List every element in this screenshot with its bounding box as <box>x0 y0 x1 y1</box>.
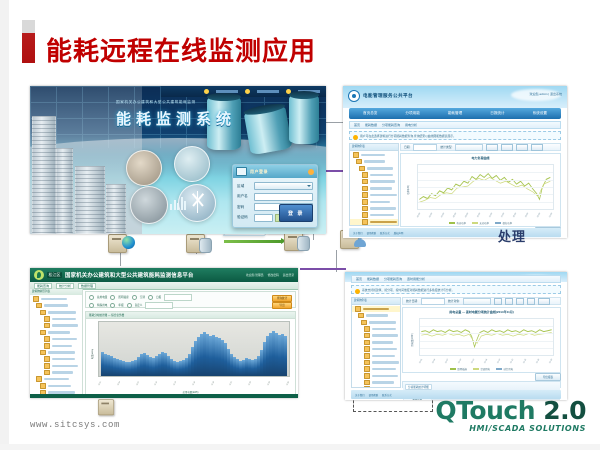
query-button[interactable] <box>531 144 543 151</box>
field-label: 用户名 <box>237 194 254 199</box>
dashboard-footer[interactable]: 关于我们 使用帮助 联系方式 版权声明 <box>349 228 561 237</box>
region-badge: 松江区 <box>47 272 62 278</box>
tree-node[interactable] <box>30 370 82 376</box>
x-tick: 14:00 <box>501 213 505 218</box>
login-dialog[interactable]: 用户登录 区域 用户名 密码 验证码 <box>232 164 318 228</box>
page-title: 能耗远程在线监测应用 <box>46 39 316 65</box>
tree-node[interactable] <box>30 330 82 336</box>
table-tab[interactable]: 日报表 <box>403 238 417 239</box>
splash-title-block: 国家机关办公建筑和大型公共建筑能耗监测 能耗监测系统 <box>116 100 236 129</box>
x-tick: 11-10 <box>458 359 462 364</box>
nav-item[interactable]: 数据管理 <box>78 283 96 289</box>
nav-item[interactable]: 首页总览 <box>349 111 391 116</box>
tree-node-selected[interactable] <box>350 219 398 225</box>
chimney-icon <box>126 150 162 186</box>
footer-link[interactable]: 联系方式 <box>382 393 392 397</box>
bar-decor-icon <box>170 194 186 210</box>
tree-header: 建筑物树形列表 <box>30 289 82 295</box>
chart-panel-title: 能耗分时统计图 — 综合业务楼 <box>86 312 295 319</box>
legend-item: 空调用电 <box>473 367 490 371</box>
query-toolbar[interactable]: 日期: 统计类型: <box>400 143 561 151</box>
nav-item[interactable]: 能耗查询 <box>34 283 52 289</box>
tree-header: 建筑物列表 <box>350 144 398 151</box>
tree-node[interactable] <box>30 336 82 342</box>
login-field-username[interactable]: 用户名 <box>237 193 313 201</box>
x-tick: 11-04 <box>432 359 436 364</box>
chart-xaxis: 00:00 02:00 04:00 06:00 08:00 10:00 12:0… <box>417 217 554 219</box>
logo-tagline: HMI/SCADA SOLUTIONS <box>435 424 586 433</box>
tree-node[interactable] <box>350 199 398 205</box>
x-tick: 11-28 <box>536 359 540 364</box>
screenshot-login-splash[interactable]: 国家机关办公建筑和大型公共建筑能耗监测 能耗监测系统 用户登录 区域 <box>30 86 326 234</box>
logo-wordmark: QTouch 2.0 <box>435 398 586 423</box>
breadcrumb-item[interactable]: 用电分析 <box>405 123 417 127</box>
footer-link[interactable]: 联系方式 <box>380 231 390 235</box>
notice-banner: 系统支持按建筑、按分项、按时间维度对能耗数据进行多角度统计与分析。 <box>351 285 561 294</box>
type-label: 统计对象: <box>448 299 460 303</box>
tree-node[interactable] <box>352 313 400 319</box>
footer-link[interactable]: 关于我们 <box>353 231 363 235</box>
type-select[interactable] <box>455 144 483 151</box>
product-logo: QTouch 2.0 HMI/SCADA SOLUTIONS <box>435 398 586 433</box>
login-dialog-title: 用户登录 <box>250 169 308 175</box>
tree-node[interactable] <box>350 179 398 185</box>
tree-node[interactable] <box>350 206 398 212</box>
building-tree-panel[interactable]: 建筑物列表 <box>349 143 399 226</box>
screenshot-dashboard-blue2[interactable]: 首页 能耗数据 分项能耗查询 逐时用能分析 系统支持按建筑、按分项、按时间维度对… <box>345 272 567 400</box>
x-tick: 18:00 <box>525 213 529 218</box>
server-icon <box>98 398 120 415</box>
filter-option-label: 特殊用电 <box>97 303 107 307</box>
connector-line <box>120 236 121 266</box>
footer-url: www.sitcsys.com <box>30 420 120 430</box>
data-table-panel: 分项能耗统计明细 建筑名称 照明插座 空调用电 动力用电 特殊用电 用电量 平均… <box>402 381 561 388</box>
tree-node[interactable] <box>30 383 82 389</box>
radio-option[interactable] <box>89 295 94 300</box>
tree-node[interactable] <box>30 303 82 309</box>
filter-option-label: 照明插座 <box>118 295 128 299</box>
report-period-label: 年报 <box>118 303 123 307</box>
green-header: 松江区 国家机关办公建筑和大型公共建筑能耗监测信息平台 欢迎您:管理员 修改密码… <box>30 268 298 282</box>
splash-title: 能耗监测系统 <box>116 108 236 129</box>
nav-item[interactable]: 分项用能 <box>391 111 433 116</box>
breadcrumb-item[interactable]: 分项能耗查询 <box>382 123 400 127</box>
x-tick: 11-07 <box>445 359 449 364</box>
green-user-bar[interactable]: 欢迎您:管理员 修改密码 退出登录 <box>246 273 294 277</box>
tree-node[interactable] <box>30 363 82 369</box>
splash-subtitle: 国家机关办公建筑和大型公共建筑能耗监测 <box>116 100 236 105</box>
filter-toolbar[interactable]: 总用电量 照明插座 空调 日报 特殊用电 年报 <box>85 291 296 308</box>
machinery-icon <box>130 186 168 224</box>
unit-checkbox[interactable] <box>516 298 524 305</box>
tree-node[interactable] <box>352 333 400 339</box>
notice-banner: 用户可在此选择建筑进行分项能耗数据查询,查询结果以曲线图和数据表展示。 <box>349 131 561 140</box>
screenshot-dashboard-green[interactable]: 松江区 国家机关办公建筑和大型公共建筑能耗监测信息平台 欢迎您:管理员 修改密码… <box>30 268 298 398</box>
tree-node[interactable] <box>352 360 400 366</box>
option-checkbox[interactable] <box>516 144 528 151</box>
green-main-area: 总用电量 照明插座 空调 日报 特殊用电 年报 <box>83 289 298 398</box>
footer-link[interactable]: 使用帮助 <box>369 393 379 397</box>
end-date-input[interactable] <box>145 302 173 309</box>
tree-node[interactable] <box>30 376 82 382</box>
radio-option[interactable] <box>148 295 153 300</box>
dashboard-main-area: 日期: 统计类型: 电力负荷曲线 功率(kW) <box>400 143 561 226</box>
tree-node-selected[interactable] <box>352 306 400 312</box>
field-label: 区域 <box>237 184 254 189</box>
tree-node[interactable] <box>352 326 400 332</box>
table-title: 分项能耗统计明细 <box>405 384 432 390</box>
chart-title: 电力负荷曲线 <box>401 156 560 160</box>
chart-plot-area <box>98 321 290 377</box>
x-tick: 02:00 <box>429 213 433 218</box>
type-label: 统计类型: <box>440 145 452 149</box>
footer-link[interactable]: 关于我们 <box>355 393 365 397</box>
date-label: 统计日期: <box>406 299 418 303</box>
filter-row[interactable]: 总用电量 照明插座 空调 日报 <box>89 294 292 301</box>
platform-logo-icon <box>34 270 44 280</box>
export-button[interactable]: 导出报表 <box>535 373 561 381</box>
unit-checkbox[interactable] <box>505 298 513 305</box>
main-nav[interactable]: 首页总览 分项用能 能耗管理 日报统计 系统设置 <box>349 108 561 119</box>
tree-node[interactable] <box>352 373 400 379</box>
process-label: 处理 <box>498 226 526 245</box>
building-tree-panel[interactable]: 建筑物列表 <box>351 297 401 388</box>
legend-item: 视在功率 <box>495 221 512 225</box>
screenshot-dashboard-blue[interactable]: 电能管理服务公共平台 欢迎您,admin | 退出系统 首页总览 分项用能 能耗… <box>343 86 567 238</box>
unit-checkbox[interactable] <box>527 298 535 305</box>
tree-node[interactable] <box>352 346 400 352</box>
solar-panel-icon <box>174 146 210 182</box>
green-body: 建筑物树形列表 <box>30 289 298 398</box>
tree-node[interactable] <box>30 343 82 349</box>
dashboard-brand: 电能管理服务公共平台 <box>348 90 413 102</box>
x-tick: 11-13 <box>471 359 475 364</box>
brand-logo-icon <box>348 90 360 102</box>
change-password-link[interactable]: 修改密码 <box>268 273 279 277</box>
tree-node[interactable] <box>350 192 398 198</box>
login-field-region[interactable]: 区域 <box>237 182 313 190</box>
target-select[interactable] <box>463 298 491 305</box>
table-tab[interactable]: 月度统计 <box>419 238 435 239</box>
breadcrumb[interactable]: 首页 能耗数据 分项能耗查询 逐时用能分析 <box>351 275 561 283</box>
x-tick: 11-01 <box>419 359 423 364</box>
x-tick: 16:00 <box>513 213 517 218</box>
unit-checkbox[interactable] <box>494 298 502 305</box>
filter-row[interactable]: 特殊用电 年报 自定义 <box>89 302 292 309</box>
nav-item[interactable]: 统计分析 <box>56 283 74 289</box>
tree-node[interactable] <box>350 186 398 192</box>
notice-text: 系统支持按建筑、按分项、按时间维度对能耗数据进行多角度统计与分析。 <box>362 288 454 292</box>
breadcrumb-item[interactable]: 逐时用能分析 <box>407 277 425 281</box>
purple-connector <box>300 268 346 270</box>
export-button[interactable]: 导出 <box>272 302 292 310</box>
breadcrumb-item[interactable]: 能耗数据 <box>365 123 377 127</box>
title-accent-bar-icon <box>22 20 35 63</box>
report-period-label: 自定义 <box>135 303 143 307</box>
radio-option[interactable] <box>110 295 115 300</box>
tree-node[interactable] <box>30 323 82 329</box>
region-select[interactable] <box>254 182 313 190</box>
slide-left-edge <box>0 0 9 450</box>
login-dialog-titlebar: 用户登录 <box>233 165 317 178</box>
field-label: 密码 <box>237 205 254 210</box>
nav-item[interactable]: 系统设置 <box>519 111 561 116</box>
tree-node[interactable] <box>352 380 400 386</box>
tree-header: 建筑物列表 <box>352 298 400 305</box>
chart-legend: 照明插座 空调用电 动力用电 <box>403 367 560 371</box>
footer-link[interactable]: 版权声明 <box>394 231 404 235</box>
line-series <box>420 319 553 355</box>
x-tick: 11-22 <box>510 359 514 364</box>
x-tick: 11-19 <box>497 359 501 364</box>
date-input[interactable] <box>421 298 445 305</box>
tree-node[interactable] <box>352 366 400 372</box>
legend-item: 无功功率 <box>472 221 489 225</box>
chart-ylabel: 功率(kW) <box>406 185 410 195</box>
chart-ylabel: 用电量(kWh) <box>410 333 414 347</box>
server-database-icon <box>186 232 212 252</box>
query-button[interactable]: 查询统计 <box>272 295 292 303</box>
legend-item: 有功功率 <box>449 221 466 225</box>
slide-bottom-edge <box>0 444 600 450</box>
brand-title: 电能管理服务公共平台 <box>363 93 413 99</box>
x-tick: 00:00 <box>417 213 421 218</box>
radio-option[interactable] <box>89 303 94 308</box>
tree-node[interactable] <box>352 353 400 359</box>
tree-node[interactable] <box>350 212 398 218</box>
connector-line <box>196 236 197 254</box>
dashboard-main-area: 统计日期: 统计对象: 用电总量 — 逐时电能分项统计曲线(2014年11月) … <box>402 297 561 388</box>
close-icon[interactable] <box>308 169 314 175</box>
report-period-label: 日报 <box>156 295 161 299</box>
captcha-input[interactable] <box>254 214 273 222</box>
data-flow-arrow-icon <box>224 240 282 243</box>
legend-item: 照明插座 <box>450 367 467 371</box>
connector-line <box>336 250 337 272</box>
login-dialog-icon <box>236 167 247 176</box>
x-tick: 11-25 <box>523 359 527 364</box>
nav-item[interactable]: 日报统计 <box>476 111 518 116</box>
chart-panel: 电力负荷曲线 功率(kW) 00:00 02:00 04:00 06:00 <box>400 153 561 227</box>
legend-item: 动力用电 <box>496 367 513 371</box>
chart-panel: 用电总量 — 逐时电能分项统计曲线(2014年11月) 用电量(kWh) 11-… <box>402 307 561 373</box>
chart-title: 用电总量 — 逐时电能分项统计曲线(2014年11月) <box>403 310 560 314</box>
date-input[interactable] <box>413 144 437 151</box>
tree-node[interactable] <box>350 152 398 158</box>
server-globe-icon <box>108 232 134 252</box>
breadcrumb-item[interactable]: 首页 <box>354 123 360 127</box>
green-chart-panel: 能耗分时统计图 — 综合业务楼 电量(kWh) <box>85 311 296 396</box>
query-button[interactable] <box>538 298 550 305</box>
x-tick: 20:00 <box>537 213 541 218</box>
breadcrumb-item[interactable]: 分项能耗查询 <box>384 277 402 281</box>
breadcrumb-item[interactable]: 首页 <box>356 277 362 281</box>
chart-plot-area <box>419 318 554 356</box>
tree-node[interactable] <box>30 356 82 362</box>
login-submit-button[interactable]: 登 录 <box>279 204 313 222</box>
x-tick: 12:00 <box>489 213 493 218</box>
x-tick: 04:00 <box>441 213 445 218</box>
notice-text: 用户可在此选择建筑进行分项能耗数据查询,查询结果以曲线图和数据表展示。 <box>360 134 456 138</box>
bar-series <box>101 326 287 376</box>
tree-node[interactable] <box>350 172 398 178</box>
tree-node[interactable] <box>30 296 82 302</box>
username-input[interactable] <box>254 193 313 201</box>
chart-xaxis: 11-01 11-04 11-07 11-10 11-13 11-16 11-1… <box>419 363 554 365</box>
tree-node[interactable] <box>350 159 398 165</box>
slide-title-block: 能耗远程在线监测应用 <box>22 20 316 65</box>
green-footer-bar <box>30 394 298 398</box>
slide-root: 能耗远程在线监测应用 <box>0 0 600 450</box>
x-tick: 11-30 <box>549 359 553 364</box>
tree-node[interactable] <box>30 310 82 316</box>
tree-node[interactable] <box>352 386 400 388</box>
radio-option[interactable] <box>132 295 137 300</box>
chart-xaxis: 11-0111-0411-0711-10 11-1311-1611-1911-2… <box>98 385 290 387</box>
green-tree-panel[interactable]: 建筑物树形列表 <box>30 289 83 398</box>
tree-node[interactable] <box>30 350 82 356</box>
query-toolbar[interactable]: 统计日期: 统计对象: <box>402 297 561 305</box>
radio-option[interactable] <box>127 303 132 308</box>
x-tick: 08:00 <box>465 213 469 218</box>
logout-link[interactable]: 退出登录 <box>283 273 294 277</box>
breadcrumb-item[interactable]: 能耗数据 <box>367 277 379 281</box>
tree-node[interactable] <box>352 320 400 326</box>
x-tick: 06:00 <box>453 213 457 218</box>
filter-option-label: 空调 <box>140 295 145 299</box>
tree-node[interactable] <box>352 340 400 346</box>
tree-node[interactable] <box>30 316 82 322</box>
start-date-input[interactable] <box>164 294 192 301</box>
x-tick: 10:00 <box>477 213 481 218</box>
footer-link[interactable]: 使用帮助 <box>367 231 377 235</box>
radio-option[interactable] <box>110 303 115 308</box>
tree-node[interactable] <box>350 166 398 172</box>
chart-ylabel: 电量(kWh) <box>90 348 94 358</box>
breadcrumb[interactable]: 首页 能耗数据 分项能耗查询 用电分析 <box>349 121 561 129</box>
date-label: 日期: <box>404 145 410 149</box>
platform-title: 国家机关办公建筑和大型公共建筑能耗监测信息平台 <box>65 271 194 279</box>
table-tab[interactable]: 对比 <box>453 238 464 239</box>
chart-legend: 有功功率 无功功率 视在功率 <box>401 221 560 225</box>
user-bar[interactable]: 欢迎您,admin | 退出系统 <box>530 92 562 96</box>
option-checkbox[interactable] <box>486 144 498 151</box>
filter-option-label: 总用电量 <box>97 295 107 299</box>
chart-plot-area <box>417 164 554 210</box>
user-greeting: 欢迎您:管理员 <box>246 273 264 277</box>
nav-item[interactable]: 能耗管理 <box>434 111 476 116</box>
x-tick: 22:00 <box>549 213 553 218</box>
option-checkbox[interactable] <box>501 144 513 151</box>
x-tick: 11-16 <box>484 359 488 364</box>
table-tab[interactable]: 年统计 <box>437 238 451 239</box>
field-label: 验证码 <box>237 215 254 220</box>
